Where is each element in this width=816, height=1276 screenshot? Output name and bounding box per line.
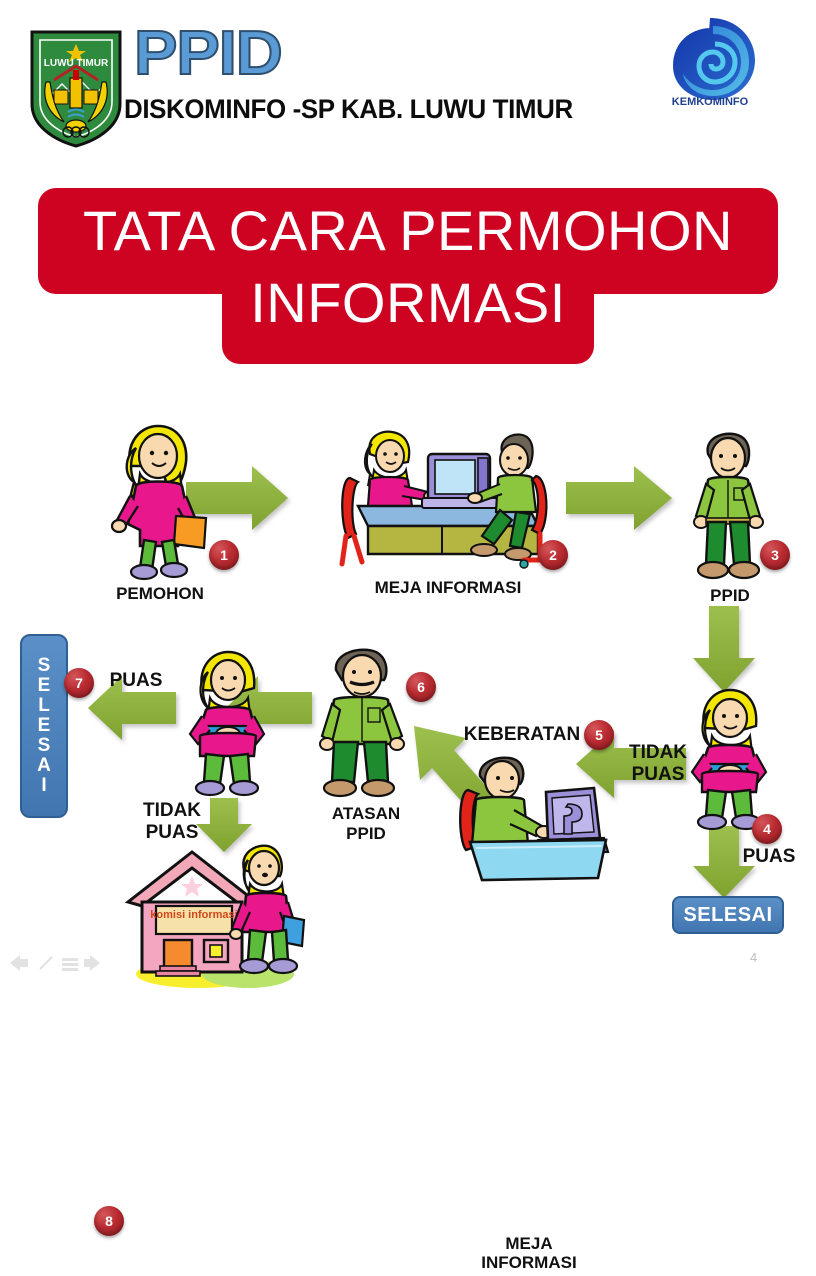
node-pemohon-figure xyxy=(100,420,210,580)
selesai-vertical-box[interactable]: S E L E S A I xyxy=(20,634,68,818)
title-banner: TATA CARA PERMOHON INFORMASI xyxy=(38,188,778,378)
back-arrow-icon[interactable] xyxy=(10,955,28,971)
selesai-v-letter-6: A xyxy=(37,756,51,776)
caption-ppid: PPID xyxy=(680,586,780,606)
ppid-logo-text: PPID xyxy=(134,22,282,86)
slide-page: LUWU TIMUR PPID DISKOMINFO -SP KAB. LUWU… xyxy=(0,0,816,1056)
caption-meja-informasi: MEJA INFORMASI xyxy=(328,578,568,598)
menu-icon[interactable] xyxy=(62,958,78,971)
selesai-v-letter-2: E xyxy=(38,676,51,696)
label-tidak-puas-left: TIDAK PUAS xyxy=(126,800,218,844)
department-name: DISKOMINFO -SP KAB. LUWU TIMUR xyxy=(124,94,573,125)
banner-title-line2: INFORMASI xyxy=(38,274,778,332)
step-badge-3: 3 xyxy=(760,540,790,570)
forward-arrow-icon[interactable] xyxy=(84,955,100,971)
label-keberatan: KEBERATAN xyxy=(452,724,592,746)
selesai-v-letter-7: I xyxy=(41,776,46,796)
label-puas-left: PUAS xyxy=(96,670,176,692)
step-badge-7: 7 xyxy=(64,668,94,698)
step-badge-6: 6 xyxy=(406,672,436,702)
arrow-ppid-down xyxy=(693,606,755,692)
caption-atasan-ppid: ATASAN PPID xyxy=(308,804,424,844)
step-badge-8: 8 xyxy=(94,1206,124,1236)
node-meja-informasi-2-scene xyxy=(452,754,612,884)
step-badge-4: 4 xyxy=(752,814,782,844)
selesai-v-letter-1: S xyxy=(38,656,51,676)
arrow-meja-to-ppid xyxy=(566,466,672,530)
node-atasan-ppid-figure xyxy=(318,648,410,802)
label-tidak-puas-right: TIDAK PUAS xyxy=(612,742,704,786)
flow-diagram: PEMOHON 1 xyxy=(0,400,816,1000)
selesai-v-letter-4: E xyxy=(38,716,51,736)
selesai-v-letter-3: L xyxy=(38,696,50,716)
caption-pemohon: PEMOHON xyxy=(85,584,235,604)
banner-title-line1: TATA CARA PERMOHON xyxy=(38,202,778,260)
caption-meja-informasi-2: MEJA INFORMASI xyxy=(470,1230,588,1276)
node-ppid-figure xyxy=(688,430,772,582)
node-komisi-informasi-scene: komisi informasi xyxy=(120,842,310,990)
step-badge-1: 1 xyxy=(209,540,239,570)
page-number: 4 xyxy=(750,950,757,965)
node-meja-informasi-scene xyxy=(332,430,562,585)
step-badge-5: 5 xyxy=(584,720,614,750)
selesai-horizontal-box[interactable]: SELESAI xyxy=(672,896,784,934)
step-badge-2: 2 xyxy=(538,540,568,570)
komisi-sign-line1: komisi informasi xyxy=(150,909,237,921)
luwu-timur-crest-logo: LUWU TIMUR xyxy=(24,22,128,148)
node-pemohon-middle-figure xyxy=(176,650,276,796)
pen-icon[interactable] xyxy=(40,957,52,969)
slide-toolbar[interactable] xyxy=(6,955,106,977)
label-puas-right: PUAS xyxy=(734,846,804,868)
selesai-v-letter-5: S xyxy=(38,736,51,756)
kemkominfo-logo: KEMKOMINFO xyxy=(655,12,765,134)
page-header: LUWU TIMUR PPID DISKOMINFO -SP KAB. LUWU… xyxy=(0,0,816,160)
kemkominfo-label: KEMKOMINFO xyxy=(672,96,749,108)
